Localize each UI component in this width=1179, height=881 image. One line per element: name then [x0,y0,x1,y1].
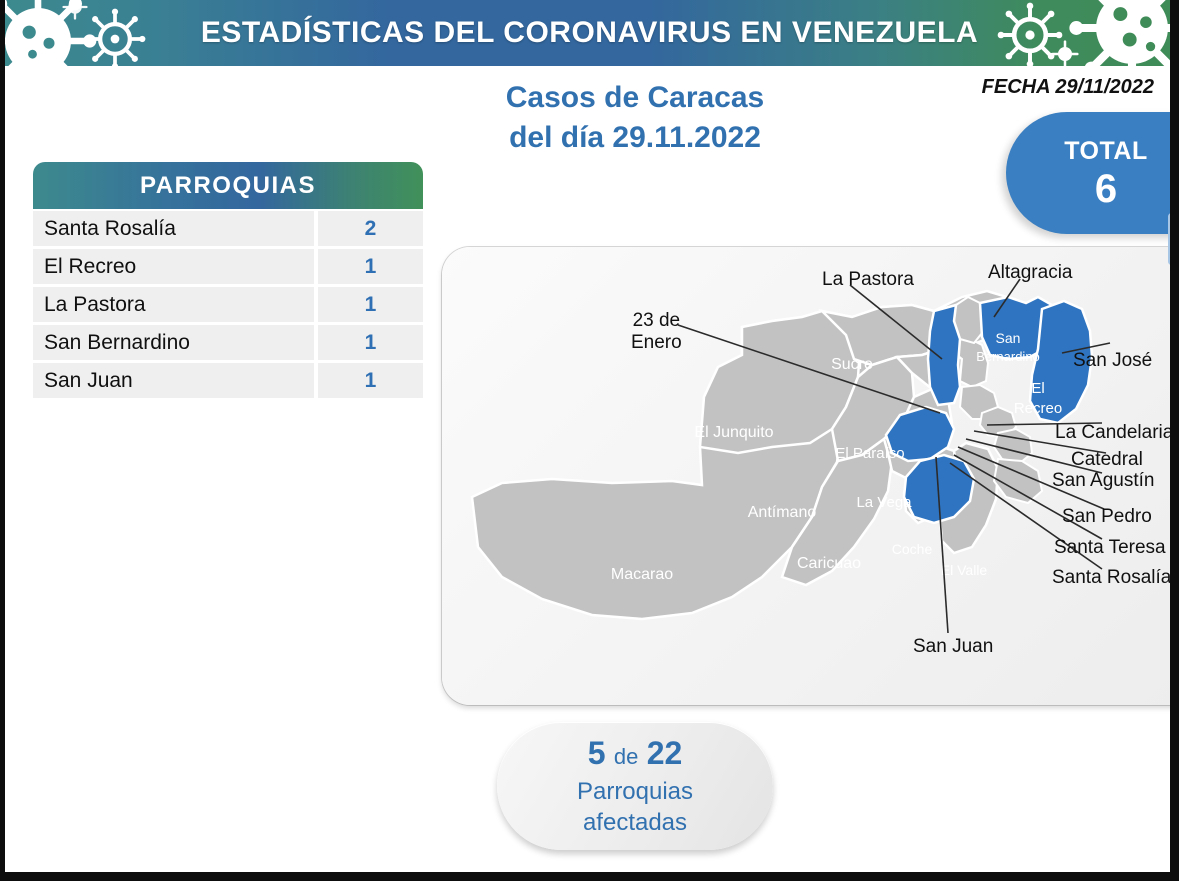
table-row[interactable]: El Recreo 1 [33,249,423,284]
page-title-line1: Casos de Caracas [375,78,895,118]
callout-san-juan: San Juan [913,635,993,658]
callout-catedral: Catedral [1071,448,1143,471]
total-label: TOTAL [1064,135,1148,167]
parroquia-name: San Juan [33,363,314,398]
total-value: 6 [1095,167,1117,211]
affected-count: 5 [588,735,606,771]
affected-total: 22 [647,735,683,771]
infographic-page: ESTADÍSTICAS DEL CORONAVIRUS EN VENEZUEL… [0,0,1179,881]
map-label-el-valle: El Valle [941,562,988,578]
affected-ratio: 5 de 22 [588,734,683,776]
parroquia-count: 2 [318,211,423,246]
table-header: PARROQUIAS [33,162,423,209]
map-label-san-bernardino-2: Bernardino [976,349,1040,364]
map-label-el-paraiso: El Paraíso [835,445,904,462]
banner-title: ESTADÍSTICAS DEL CORONAVIRUS EN VENEZUEL… [0,0,1179,66]
page-title-line2: del día 29.11.2022 [375,118,895,158]
page-title: Casos de Caracas del día 29.11.2022 [375,78,895,158]
parroquia-name: El Recreo [33,249,314,284]
table-row[interactable]: San Juan 1 [33,363,423,398]
table-row[interactable]: La Pastora 1 [33,287,423,322]
header-banner: ESTADÍSTICAS DEL CORONAVIRUS EN VENEZUEL… [0,0,1179,66]
callout-line1: 23 de [631,310,682,332]
map-label-macarao: Macarao [611,566,673,583]
parroquias-table: PARROQUIAS Santa Rosalía 2 El Recreo 1 L… [33,162,423,401]
parroquia-count: 1 [318,249,423,284]
parroquia-count: 1 [318,287,423,322]
callout-23-de-enero: 23 de Enero [631,310,682,354]
map-label-el-junquito: El Junquito [694,424,773,441]
callout-san-pedro: San Pedro [1062,505,1152,528]
affected-de: de [614,744,638,769]
total-badge: TOTAL 6 [1006,112,1179,234]
banner-underline [0,66,1179,71]
table-row[interactable]: Santa Rosalía 2 [33,211,423,246]
parroquia-name: La Pastora [33,287,314,322]
callout-altagracia: Altagracia [988,261,1073,284]
parroquia-name: Santa Rosalía [33,211,314,246]
map-label-la-vega: La Vega [856,494,912,511]
fecha-label: FECHA 29/11/2022 [982,76,1154,99]
callout-la-pastora: La Pastora [822,268,914,291]
callout-san-agustin: San Agustín [1052,469,1154,492]
affected-label-line2: afectadas [583,807,687,838]
callout-la-candelaria: La Candelaria [1055,421,1173,444]
callout-line2: Enero [631,332,682,354]
affected-parroquias-card: 5 de 22 Parroquias afectadas [497,722,773,850]
vertical-scrollbar-thumb[interactable] [1168,213,1175,265]
callout-santa-rosalia: Santa Rosalía [1052,566,1171,589]
map-label-coche: Coche [892,541,933,557]
affected-label-line1: Parroquias [577,776,693,807]
parroquia-name: San Bernardino [33,325,314,360]
callout-san-jose: San José [1073,349,1152,372]
map-label-antimano: Antímano [748,504,817,521]
map-label-caricuao: Caricuao [797,555,861,572]
map-label-el-recreo-2: Recreo [1014,400,1062,417]
map-label-san-bernardino-1: San [996,330,1021,346]
map-label-sucre: Sucre [831,356,873,373]
table-body: Santa Rosalía 2 El Recreo 1 La Pastora 1… [33,209,423,398]
parroquia-count: 1 [318,363,423,398]
map-label-el-recreo-1: El [1031,380,1044,397]
region-la-pastora [928,305,960,405]
parroquia-count: 1 [318,325,423,360]
table-row[interactable]: San Bernardino 1 [33,325,423,360]
callout-santa-teresa: Santa Teresa [1054,536,1166,559]
